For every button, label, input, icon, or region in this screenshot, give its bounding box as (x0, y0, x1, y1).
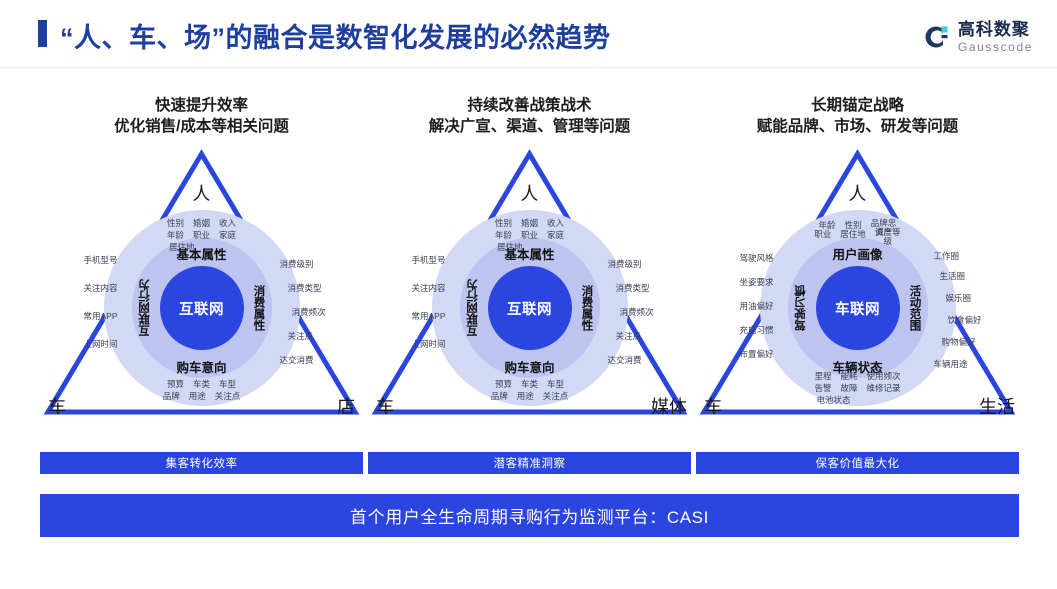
outer-label: 预算 (167, 378, 184, 390)
outer-label: 充电习惯 (739, 324, 773, 336)
ring-core-2: 互联网 (488, 266, 572, 350)
outer-label: 上网时间 (411, 338, 445, 350)
outer-label: 消费类型 (288, 282, 322, 294)
outer-label: 手机型号 (411, 254, 445, 266)
outer-label: 关注点 (215, 390, 241, 402)
core-label-1: 互联网 (179, 298, 224, 319)
corner-label-top-1: 人 (193, 180, 211, 206)
outer-label: 资产等级 (875, 228, 901, 246)
outer-label: 居住地 (497, 241, 523, 253)
outer-label: 预算 (495, 378, 512, 390)
mid-ring-label-left-1: 互联网行为 (137, 279, 153, 337)
core-label-3: 车联网 (835, 298, 880, 319)
column-2-triangle-diagram: 人 车 媒体 互联网 基本属性 购车意向 互联网行为 消费属性 性别婚姻收入 年… (368, 146, 691, 421)
outer-label: 婚姻 (193, 217, 210, 229)
outer-label: 维修记录 (867, 382, 901, 394)
outer-label: 年龄 (167, 229, 184, 241)
outer-label: 常用APP (83, 310, 117, 322)
band-label-3: 保客价值最大化 (696, 452, 1019, 474)
outer-label: 消费频次 (292, 306, 326, 318)
mid-ring-label-right-3: 活动范围 (907, 285, 923, 331)
concentric-rings-2: 互联网 基本属性 购车意向 互联网行为 消费属性 性别婚姻收入 年龄职业家庭 居… (432, 210, 628, 406)
page-title: “人、车、场”的融合是数智化发展的必然趋势 (60, 16, 611, 55)
outer-label: 职业 (521, 229, 538, 241)
outer-label: 工作圈 (934, 250, 960, 262)
outer-label: 生活圈 (940, 270, 966, 282)
outer-label: 车型 (547, 378, 564, 390)
outer-label: 达交消费 (608, 354, 642, 366)
column-3-heading: 长期锚定战略 赋能品牌、市场、研发等问题 (696, 96, 1019, 138)
column-2-heading-line2: 解决广宣、渠道、管理等问题 (368, 116, 691, 138)
outer-label: 消费频次 (620, 306, 654, 318)
outer-label: 居住地 (840, 228, 866, 246)
column-1-triangle-diagram: 人 车 店 互联网 基本属性 购车意向 互联网行为 消费属性 性别婚姻收入 年龄… (40, 146, 363, 421)
logo-text-cn: 高科数聚 (958, 21, 1033, 38)
mid-ring-label-top-3: 用户画像 (832, 244, 882, 263)
outer-label: 手机型号 (83, 254, 117, 266)
concentric-rings-3: 车联网 用户画像 车辆状态 驾驶习惯 活动范围 年龄性别品牌忠诚度 职业居住地资… (760, 210, 956, 406)
mid-ring-label-left-2: 互联网行为 (465, 279, 481, 337)
outer-labels-bottom-3: 里程能耗使用频次 告警故障维修记录 电池状态 (814, 370, 900, 406)
corner-label-top-3: 人 (849, 180, 867, 206)
outer-label: 品牌 (163, 390, 180, 402)
outer-label: 居住地 (169, 241, 195, 253)
outer-label: 职业 (193, 229, 210, 241)
outer-labels-top-1: 性别婚姻收入 年龄职业家庭 居住地 (167, 217, 236, 253)
outer-label: 布置偏好 (739, 348, 773, 360)
outer-label: 车型 (219, 378, 236, 390)
outer-label: 家庭 (219, 229, 236, 241)
column-2-heading-line1: 持续改善战策战术 (368, 96, 691, 116)
column-2-heading: 持续改善战策战术 解决广宣、渠道、管理等问题 (368, 96, 691, 138)
ring-core-1: 互联网 (160, 266, 244, 350)
mid-ring-label-bottom-1: 购车意向 (176, 357, 226, 376)
outer-label: 消费级别 (280, 258, 314, 270)
title-bullet-icon (38, 20, 47, 47)
outer-label: 用油偏好 (739, 300, 773, 312)
column-1-heading-line1: 快速提升效率 (40, 96, 363, 116)
mid-ring-label-right-2: 消费属性 (579, 285, 595, 331)
outer-label: 上网时间 (83, 338, 117, 350)
column-3-heading-line1: 长期锚定战略 (696, 96, 1019, 116)
column-1-heading: 快速提升效率 优化销售/成本等相关问题 (40, 96, 363, 138)
outer-labels-bottom-2: 预算车类车型 品牌用途关注点 (491, 378, 569, 402)
outer-label: 电池状态 (816, 394, 850, 406)
mid-ring-label-bottom-2: 购车意向 (504, 357, 554, 376)
mid-ring-label-left-3: 驾驶习惯 (793, 285, 809, 331)
column-3-triangle-diagram: 人 车 生活 车联网 用户画像 车辆状态 驾驶习惯 活动范围 年龄性别品牌忠诚度… (696, 146, 1019, 421)
outer-label: 坐姿要求 (739, 276, 773, 288)
mid-ring-label-right-1: 消费属性 (251, 285, 267, 331)
outer-label: 关注内容 (83, 282, 117, 294)
column-3: 长期锚定战略 赋能品牌、市场、研发等问题 人 车 生活 车联网 用户画像 车辆状… (696, 96, 1019, 421)
outer-label: 消费类型 (616, 282, 650, 294)
outer-labels-left-2: 手机型号 关注内容 常用APP 上网时间 (360, 210, 446, 406)
outer-label: 收入 (547, 217, 564, 229)
outer-label: 达交消费 (280, 354, 314, 366)
outer-label: 用途 (189, 390, 206, 402)
outer-label: 驾驶风格 (739, 252, 773, 264)
band-label-1: 集客转化效率 (40, 452, 363, 474)
brand-logo: 高科数聚 Gausscode (921, 16, 1033, 58)
outer-label: 里程 (814, 370, 831, 382)
outer-labels-right-3: 工作圈 生活圈 娱乐圈 饮食偏好 购物偏好 车辆用途 (942, 210, 1028, 406)
outer-label: 娱乐圈 (946, 292, 972, 304)
ring-core-3: 车联网 (816, 266, 900, 350)
outer-label: 收入 (219, 217, 236, 229)
outer-labels-bottom-1: 预算车类车型 品牌用途关注点 (163, 378, 241, 402)
outer-labels-left-1: 手机型号 关注内容 常用APP 上网时间 (32, 210, 118, 406)
outer-label: 消费级别 (608, 258, 642, 270)
corner-label-top-2: 人 (521, 180, 539, 206)
outer-label: 故障 (840, 382, 857, 394)
header-divider (0, 67, 1057, 68)
slide-header: “人、车、场”的融合是数智化发展的必然趋势 高科数聚 Gausscode (0, 0, 1057, 68)
outer-label: 购物偏好 (942, 336, 976, 348)
outer-label: 性别 (167, 217, 184, 229)
outer-label: 职业 (814, 228, 831, 246)
core-label-2: 互联网 (507, 298, 552, 319)
gausscode-logo-icon (921, 22, 951, 52)
outer-label: 家庭 (547, 229, 564, 241)
outer-label: 告警 (814, 382, 831, 394)
outer-label: 关注内容 (411, 282, 445, 294)
column-1: 快速提升效率 优化销售/成本等相关问题 人 车 店 互联网 基本属性 购车意向 … (40, 96, 363, 421)
band-label-2: 潜客精准洞察 (368, 452, 691, 474)
outer-label: 饮食偏好 (948, 314, 982, 326)
outer-label: 关注点 (616, 330, 642, 342)
logo-text-en: Gausscode (958, 41, 1033, 53)
outer-label: 车类 (521, 378, 538, 390)
outer-label: 关注点 (288, 330, 314, 342)
column-1-heading-line2: 优化销售/成本等相关问题 (40, 116, 363, 138)
footer-platform-label: 首个用户全生命周期寻购行为监测平台：CASI (40, 494, 1019, 537)
outer-label: 关注点 (543, 390, 569, 402)
outer-label: 常用APP (411, 310, 445, 322)
outer-label: 使用频次 (867, 370, 901, 382)
outer-labels-top-3: 年龄性别品牌忠诚度 职业居住地资产等级 (814, 219, 901, 246)
outer-label: 性别 (495, 217, 512, 229)
outer-label: 能耗 (840, 370, 857, 382)
outer-label: 用途 (517, 390, 534, 402)
outer-labels-top-2: 性别婚姻收入 年龄职业家庭 居住地 (495, 217, 564, 253)
outer-label: 车辆用途 (934, 358, 968, 370)
column-2: 持续改善战策战术 解决广宣、渠道、管理等问题 人 车 媒体 互联网 基本属性 购… (368, 96, 691, 421)
outer-label: 品牌 (491, 390, 508, 402)
concentric-rings-1: 互联网 基本属性 购车意向 互联网行为 消费属性 性别婚姻收入 年龄职业家庭 居… (104, 210, 300, 406)
outer-label: 年龄 (495, 229, 512, 241)
outer-label: 车类 (193, 378, 210, 390)
column-3-heading-line2: 赋能品牌、市场、研发等问题 (696, 116, 1019, 138)
slide-canvas: “人、车、场”的融合是数智化发展的必然趋势 高科数聚 Gausscode 快速提… (0, 0, 1057, 589)
outer-label: 婚姻 (521, 217, 538, 229)
outer-labels-left-3: 驾驶风格 坐姿要求 用油偏好 充电习惯 布置偏好 (688, 210, 774, 406)
